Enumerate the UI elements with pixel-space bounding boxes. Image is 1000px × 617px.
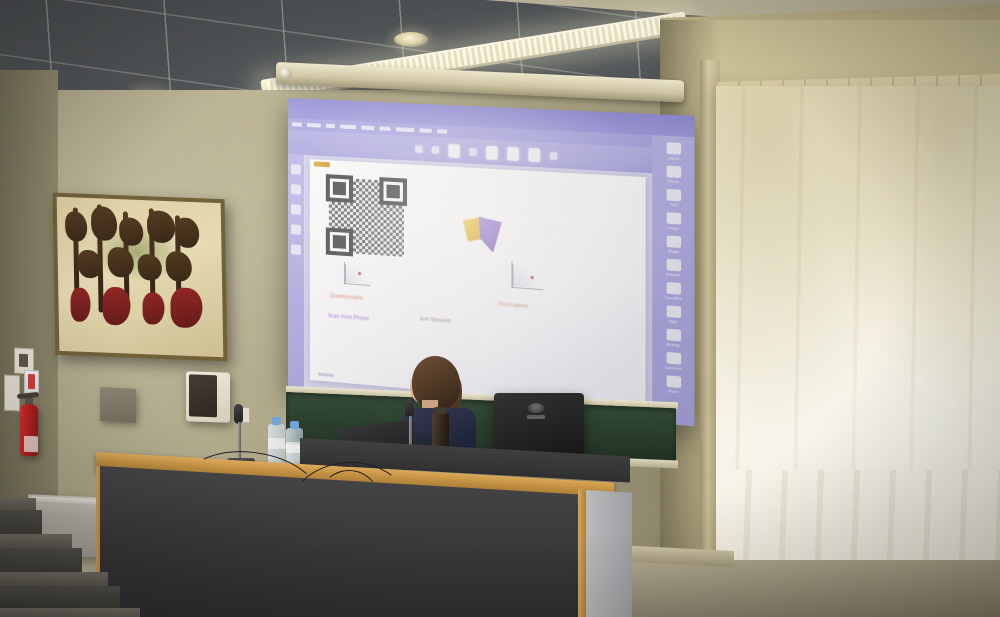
fire-extinguisher-sign-icon: [24, 370, 39, 395]
slide-caption-join-session: Join Session: [419, 316, 450, 325]
sketch-point: [531, 276, 534, 279]
new-slide-icon[interactable]: [415, 145, 422, 153]
brand-logo-icon: [465, 214, 507, 260]
slide-marker: [314, 161, 330, 167]
link-icon[interactable]: [549, 152, 557, 160]
slide-thumbnail-rail[interactable]: [288, 154, 304, 391]
step-tread: [0, 498, 36, 510]
panel-item-layout[interactable]: Layout: [652, 142, 694, 162]
slide-sketch-left: [344, 262, 370, 286]
step-riser: [0, 510, 42, 536]
text-icon: [666, 189, 680, 201]
qr-finder-icon: [326, 227, 353, 256]
slide-caption-questionnaire: Questionnaire: [330, 293, 363, 302]
menu-item[interactable]: [307, 123, 321, 128]
artwork-canvas: [57, 197, 224, 357]
panel-item-theme[interactable]: Theme: [652, 165, 694, 185]
panel-item-label: Theme: [667, 179, 679, 184]
menu-item[interactable]: [340, 124, 356, 129]
step-tread: [0, 534, 72, 548]
app-side-panel[interactable]: Layout Theme Text Image Shape: [652, 135, 694, 426]
panel-item-animate[interactable]: Animate: [652, 258, 694, 279]
comment-icon: [666, 352, 680, 365]
panel-item-label: Text: [670, 203, 677, 208]
panel-item-share[interactable]: Share: [652, 374, 694, 396]
monitor-badge: [527, 415, 545, 419]
panel-item-comment[interactable]: Comment: [652, 351, 694, 372]
panel-item-label: Animate: [666, 272, 681, 277]
step-riser: [0, 548, 82, 574]
panel-item-label: Image: [668, 226, 679, 231]
menu-item[interactable]: [361, 125, 374, 130]
chart-icon[interactable]: [507, 146, 519, 160]
panel-item-transition[interactable]: Transition: [652, 281, 694, 302]
shape-icon: [666, 235, 680, 248]
panel-item-label: Align: [669, 319, 678, 324]
slide-thumb-icon[interactable]: [291, 184, 301, 195]
panel-item-label: Comment: [665, 366, 682, 372]
step-tread: [0, 608, 140, 617]
desk-side-panel: [586, 490, 632, 617]
panel-item-text[interactable]: Text: [652, 188, 694, 208]
panel-item-label: Shape: [668, 249, 679, 254]
menu-item[interactable]: [326, 124, 335, 128]
image-icon: [666, 212, 680, 225]
projection-screen[interactable]: Layout Theme Text Image Shape: [288, 98, 695, 426]
slide-thumb-icon[interactable]: [291, 224, 301, 235]
slide-thumb-icon[interactable]: [291, 204, 301, 215]
bottle-cap: [272, 417, 281, 425]
bottle-label: [268, 438, 285, 449]
monitor-logo-icon: [528, 403, 544, 413]
theme-icon: [666, 166, 680, 178]
panel-item-label: Layout: [667, 156, 679, 161]
menu-item[interactable]: [379, 126, 390, 131]
panel-item-arrange[interactable]: Arrange: [652, 328, 694, 349]
projected-image: Layout Theme Text Image Shape: [288, 98, 695, 426]
qr-code-icon: [326, 174, 407, 260]
slide-sketch-right: [511, 261, 543, 290]
layout-icon: [666, 142, 680, 154]
panel-item-label: Arrange: [666, 342, 680, 347]
slide-thumb-icon[interactable]: [291, 244, 301, 255]
floor: [614, 560, 1000, 617]
panel-item-image[interactable]: Image: [652, 211, 694, 232]
desktop-monitor[interactable]: [494, 393, 584, 455]
share-icon: [666, 375, 680, 388]
shape-icon[interactable]: [469, 148, 476, 156]
transition-icon: [666, 282, 680, 295]
menu-item[interactable]: [437, 129, 447, 134]
logo-purple-shape: [479, 217, 502, 254]
sketch-point: [358, 272, 361, 275]
microphone-head-icon: [405, 398, 414, 418]
text-box-icon[interactable]: [431, 146, 438, 154]
menu-item[interactable]: [292, 122, 302, 126]
lecture-hall-scene: Layout Theme Text Image Shape: [0, 0, 1000, 617]
menu-item[interactable]: [396, 127, 414, 132]
panel-item-label: Transition: [665, 296, 683, 301]
screen-roller-endcap: [280, 67, 292, 80]
fire-extinguisher[interactable]: [18, 388, 40, 457]
wall-artwork: [53, 193, 228, 362]
panel-item-label: Share: [668, 389, 679, 394]
media-icon[interactable]: [528, 147, 540, 161]
panel-item-align[interactable]: Align: [652, 304, 694, 325]
slide-caption-participants: Participants: [499, 301, 529, 309]
extinguisher-body: [20, 404, 38, 457]
animate-icon: [666, 259, 680, 272]
slide-caption-scan-from-phone: Scan from Phone: [328, 313, 369, 322]
menu-item[interactable]: [419, 128, 431, 133]
slide-page-indicator: [318, 373, 334, 377]
aisle-steps: [0, 470, 140, 617]
slide-thumb-icon[interactable]: [291, 164, 301, 175]
align-icon: [666, 305, 680, 318]
image-icon[interactable]: [448, 143, 459, 157]
sketch-curve: [512, 264, 541, 289]
speaker-cone-icon: [189, 374, 217, 417]
microphone-head-icon: [234, 404, 243, 424]
qr-finder-icon: [379, 177, 407, 206]
step-riser: [0, 586, 120, 610]
qr-finder-icon: [326, 174, 353, 203]
arrange-icon: [666, 329, 680, 342]
extinguisher-label: [24, 436, 38, 452]
step-tread: [0, 572, 108, 586]
downlight-icon: [394, 32, 428, 47]
table-icon[interactable]: [486, 145, 498, 159]
thermos-lid: [434, 407, 447, 414]
wall-panel: [100, 387, 136, 423]
sketch-curve: [345, 264, 369, 285]
panel-item-shape[interactable]: Shape: [652, 235, 694, 256]
bottle-cap: [290, 421, 299, 429]
